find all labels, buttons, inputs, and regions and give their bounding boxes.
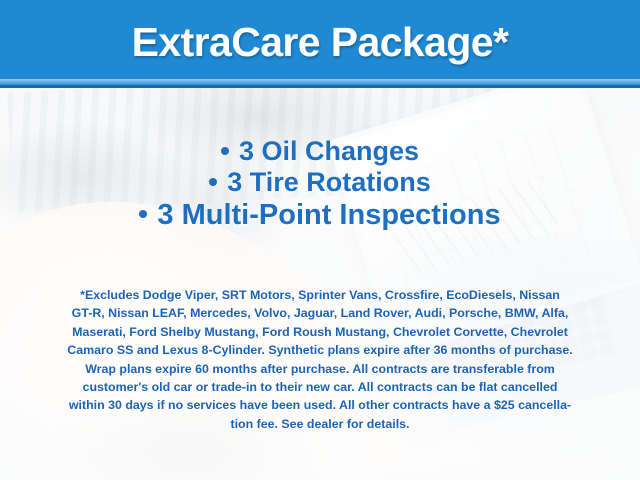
- list-item: 3 Tire Rotations: [0, 167, 640, 198]
- benefits-list: 3 Oil Changes 3 Tire Rotations 3 Multi-P…: [0, 136, 640, 232]
- fineprint-line: GT-R, Nissan LEAF, Mercedes, Volvo, Jagu…: [26, 304, 614, 322]
- banner-sheen: [0, 79, 640, 85]
- benefit-label: 3 Tire Rotations: [227, 167, 431, 197]
- bullet-dot-icon: [139, 210, 147, 218]
- list-item: 3 Multi-Point Inspections: [0, 199, 640, 233]
- page-title: ExtraCare Package*: [122, 19, 519, 66]
- fineprint-line: Camaro SS and Lexus 8-Cylinder. Syntheti…: [26, 341, 614, 359]
- bullet-dot-icon: [221, 147, 229, 155]
- header-banner: ExtraCare Package*: [0, 0, 640, 88]
- fineprint-line: customer's old car or trade-in to their …: [26, 378, 614, 396]
- extracare-package-poster: ExtraCare Package* 3 Oil Changes 3 Tire …: [0, 0, 640, 480]
- fineprint-line: *Excludes Dodge Viper, SRT Motors, Sprin…: [26, 286, 614, 304]
- fineprint-disclaimer: *Excludes Dodge Viper, SRT Motors, Sprin…: [26, 286, 614, 433]
- benefit-label: 3 Oil Changes: [239, 136, 419, 166]
- fineprint-line: Maserati, Ford Shelby Mustang, Ford Rous…: [26, 323, 614, 341]
- fineprint-line: within 30 days if no services have been …: [26, 396, 614, 414]
- benefit-label: 3 Multi-Point Inspections: [157, 199, 500, 231]
- bullet-dot-icon: [209, 178, 217, 186]
- fineprint-line: Wrap plans expire 60 months after purcha…: [26, 360, 614, 378]
- list-item: 3 Oil Changes: [0, 136, 640, 167]
- fineprint-line: tion fee. See dealer for details.: [26, 415, 614, 433]
